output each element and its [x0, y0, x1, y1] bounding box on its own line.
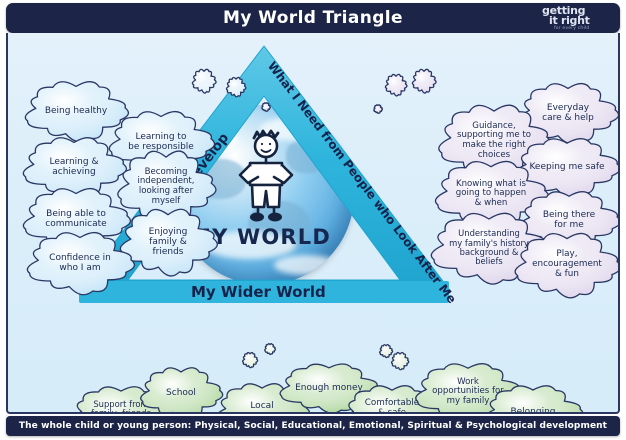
triangle-bottom-label: My Wider World: [191, 283, 326, 301]
decor-cloud-4: [384, 73, 408, 97]
logo-line-2: it right: [549, 16, 590, 26]
page-title: My World Triangle: [6, 3, 620, 33]
decor-cloud-2: [260, 101, 272, 113]
growth-cloud-6: Confidence inwho I am: [24, 232, 136, 294]
child-figure-icon: [232, 125, 300, 225]
decor-cloud-5: [411, 68, 437, 94]
decor-cloud-7: [263, 342, 277, 356]
header-bar: My World Triangle getting it right for e…: [6, 3, 620, 33]
needs-cloud-6: Play,encouragement& fun: [512, 233, 620, 297]
wider-world-cloud-1: School: [138, 367, 224, 414]
my-world-triangle-poster: My World Triangle getting it right for e…: [0, 0, 626, 440]
decor-cloud-9: [390, 351, 410, 371]
decor-cloud-0: [191, 68, 217, 94]
diagram-panel: How I Grow & Develop What I Need from Pe…: [6, 33, 620, 414]
getting-it-right-logo: getting it right for every child: [542, 5, 614, 32]
decor-cloud-1: [225, 76, 247, 98]
footer-bar: The whole child or young person: Physica…: [6, 416, 620, 436]
footer-text: The whole child or young person: Physica…: [19, 421, 607, 431]
logo-line-3: for every child: [554, 27, 589, 31]
decor-cloud-6: [241, 351, 259, 369]
wider-world-cloud-6: Belonging: [481, 385, 585, 414]
decor-cloud-3: [372, 103, 384, 115]
